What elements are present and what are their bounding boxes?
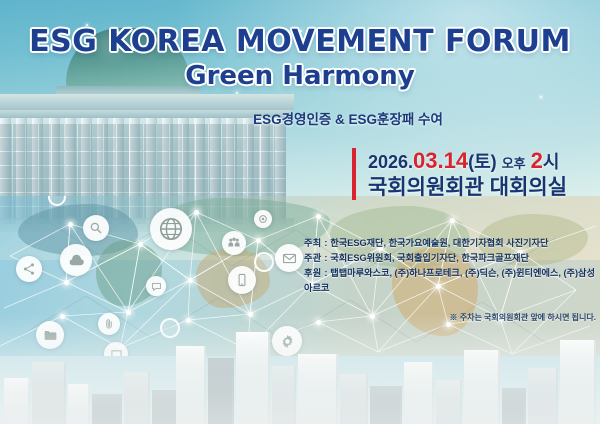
target-icon [254, 210, 272, 228]
credit-label: 후원 : [304, 268, 328, 278]
globe-icon [150, 208, 192, 250]
target-icon [254, 252, 274, 272]
cloud-icon [60, 244, 92, 276]
credit-row-host: 주최 : 한국ESG재단, 한국가요예술원, 대한기자협회 사진기자단 [304, 236, 596, 251]
poster-title-sub: Green Harmony [0, 61, 600, 91]
date-period: 오후 [502, 156, 526, 171]
parking-note: ※ 주차는 국회의원회관 앞에 하시면 됩니다. [304, 312, 596, 323]
phone-icon [228, 266, 256, 294]
credit-label: 주관 : [304, 253, 328, 263]
chat-icon [146, 276, 166, 296]
event-venue: 국회의원회관 대회의실 [368, 175, 567, 200]
date-year: 2026. [368, 152, 413, 172]
envelope-icon [275, 244, 303, 272]
date-weekday: (토) [468, 152, 497, 172]
poster-title-main: ESG KOREA MOVEMENT FORUM [0, 24, 600, 59]
award-subtitle: ESG경영인증 & ESG훈장패 수여 [0, 108, 600, 128]
credit-row-organizer: 주관 : 국회ESG위원회, 국회출입기자단, 한국파크골프재단 [304, 251, 596, 266]
share-icon [16, 256, 42, 282]
credit-value: 탭탭마루와스코, (주)하나프로테크, (주)딕슨, (주)윈티엔에스, (주)… [304, 268, 595, 293]
event-date-line: 2026.03.14(토) 오후 2시 [368, 148, 567, 174]
poster-title-block: ESG KOREA MOVEMENT FORUM Green Harmony [0, 24, 600, 91]
award-subtitle-text: ESG경영인증 & ESG훈장패 수여 [157, 112, 443, 127]
event-poster: ESG KOREA MOVEMENT FORUM Green Harmony E… [0, 0, 600, 424]
people-icon [222, 231, 246, 255]
date-hour-unit: 시 [543, 152, 560, 172]
credit-value: 국회ESG위원회, 국회출입기자단, 한국파크골프재단 [330, 253, 529, 263]
credits-block: 주최 : 한국ESG재단, 한국가요예술원, 대한기자협회 사진기자단 주관 :… [304, 236, 596, 296]
city-skyline [0, 314, 600, 424]
credit-row-sponsor: 후원 : 탭탭마루와스코, (주)하나프로테크, (주)딕슨, (주)윈티엔에스… [304, 266, 596, 296]
date-month-day: 03.14 [413, 148, 468, 173]
search-icon [83, 215, 109, 241]
credit-label: 주최 : [304, 238, 328, 248]
date-venue-block: 2026.03.14(토) 오후 2시 국회의원회관 대회의실 [352, 148, 567, 200]
credit-value: 한국ESG재단, 한국가요예술원, 대한기자협회 사진기자단 [330, 238, 548, 248]
date-hour: 2 [531, 148, 543, 173]
